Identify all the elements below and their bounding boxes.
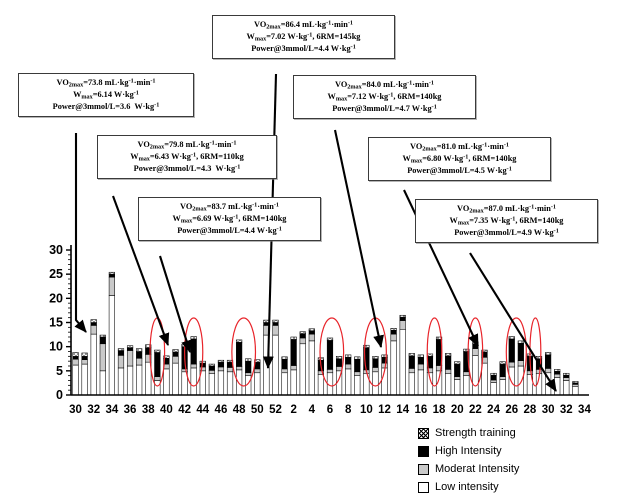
x-tick-label: 40 [160, 404, 173, 416]
bar-segment-high-intensity [173, 352, 179, 356]
bar-column [245, 359, 251, 395]
bar-segment-moderat-intensity [536, 369, 542, 373]
bar-segment-moderat-intensity [191, 364, 197, 368]
bar-segment-low-intensity [491, 382, 497, 395]
x-tick-label: 30 [542, 404, 555, 416]
bar-segment-low-intensity [209, 374, 215, 395]
bar-segment-high-intensity [291, 339, 297, 365]
x-tick-label: 42 [178, 404, 191, 416]
bar-column [454, 362, 460, 395]
y-tick-label: 15 [49, 316, 63, 330]
legend-item-moderat-intensity: Moderat Intensity [418, 460, 519, 478]
bar-column [400, 315, 406, 395]
bar-column [418, 355, 424, 395]
bar-segment-strength-training [554, 369, 560, 371]
bar-segment-low-intensity [454, 380, 460, 395]
bar-segment-strength-training [209, 364, 215, 366]
bar-segment-moderat-intensity [100, 344, 106, 371]
x-tick-label: 32 [560, 404, 573, 416]
bar-segment-low-intensity [554, 378, 560, 395]
bar-segment-high-intensity [282, 359, 288, 369]
bar-segment-low-intensity [136, 365, 142, 395]
annotation-power-line: Power@3mmol/L=4.4 W·kg-1 [144, 225, 315, 237]
bar-segment-strength-training [454, 362, 460, 364]
bar-segment-strength-training [136, 349, 142, 352]
bar-column [91, 320, 97, 395]
bar-segment-moderat-intensity [491, 380, 497, 382]
bar-segment-low-intensity [264, 335, 270, 395]
y-tick-label: 10 [49, 340, 63, 354]
bar-segment-moderat-intensity [136, 358, 142, 365]
bar-segment-high-intensity [100, 337, 106, 344]
legend-label: Moderat Intensity [435, 463, 519, 475]
bar-column [100, 335, 106, 395]
annotation-power-line: Power@3mmol/L=4.3 W·kg-1 [103, 163, 271, 175]
bar-segment-moderat-intensity [82, 360, 88, 364]
bar-segment-low-intensity [345, 369, 351, 395]
bar-segment-strength-training [82, 353, 88, 356]
bar-column [82, 353, 88, 395]
annotation-vo2-line: VO2max=86.4 mL·kg-1·min-1 [218, 19, 389, 31]
bar-segment-high-intensity [109, 274, 115, 277]
bar-segment-high-intensity [73, 356, 79, 359]
bar-column [209, 364, 215, 395]
annotation-power-line: Power@3mmol/L=3.6 W·kg-1 [24, 101, 188, 113]
bar-segment-high-intensity [563, 375, 569, 377]
bar-segment-strength-training [491, 373, 497, 375]
x-tick-label: 34 [105, 404, 118, 416]
annotation-vo2-line: VO2max=73.8 mL·kg-1·min-1 [24, 77, 188, 89]
x-tick-label: 36 [124, 404, 137, 416]
bar-segment-high-intensity [391, 330, 397, 334]
x-tick-label: 44 [196, 404, 209, 416]
bar-column [573, 381, 579, 395]
annotation-wmax-line: Wmax=6.14 W·kg-1 [24, 89, 188, 101]
bar-segment-high-intensity [136, 352, 142, 359]
bar-segment-moderat-intensity [155, 377, 161, 381]
bar-column [563, 373, 569, 395]
bar-segment-low-intensity [573, 386, 579, 395]
bar-segment-strength-training [155, 350, 161, 352]
bar-column [291, 337, 297, 395]
bar-segment-high-intensity [454, 364, 460, 377]
bar-segment-strength-training [309, 329, 315, 331]
bar-column [218, 360, 224, 395]
annotation-vo2-line: VO2max=79.8 mL·kg-1·min-1 [103, 139, 271, 151]
bar-column [200, 361, 206, 395]
bar-segment-low-intensity [100, 371, 106, 395]
bar-column [282, 357, 288, 395]
bar-segment-low-intensity [400, 329, 406, 395]
bar-segment-low-intensity [482, 363, 488, 395]
bar-segment-strength-training [109, 272, 115, 274]
bar-segment-strength-training [563, 373, 569, 375]
bar-segment-moderat-intensity [127, 351, 133, 366]
bar-segment-high-intensity [245, 361, 251, 373]
bar-segment-strength-training [418, 355, 424, 357]
bars-layer [73, 272, 578, 395]
chart-legend: Strength training High Intensity Moderat… [418, 424, 519, 496]
annotation-wmax-line: Wmax=7.12 W·kg-1, 6RM=140kg [299, 91, 470, 103]
bar-segment-low-intensity [418, 370, 424, 395]
bar-segment-strength-training [218, 360, 224, 362]
bar-column [300, 332, 306, 395]
bar-segment-moderat-intensity [109, 277, 115, 295]
bar-segment-strength-training [282, 357, 288, 359]
bar-segment-low-intensity [291, 370, 297, 395]
bar-segment-strength-training [336, 356, 342, 358]
bar-segment-high-intensity [209, 366, 215, 370]
bar-segment-strength-training [391, 328, 397, 330]
bar-segment-strength-training [173, 350, 179, 352]
bar-segment-strength-training [473, 342, 479, 344]
bar-segment-high-intensity [354, 359, 360, 372]
bar-segment-strength-training [545, 352, 551, 354]
bar-segment-moderat-intensity [91, 325, 97, 334]
highlight-ellipse [530, 318, 541, 386]
bar-segment-low-intensity [155, 381, 161, 396]
bar-segment-low-intensity [236, 370, 242, 395]
bar-segment-high-intensity [309, 331, 315, 334]
bar-segment-moderat-intensity [500, 377, 506, 380]
x-tick-label: 4 [309, 404, 316, 416]
bar-segment-low-intensity [509, 367, 515, 395]
annotation-box-4: VO2max=86.4 mL·kg-1·min-1 Wmax=7.02 W·kg… [212, 15, 395, 59]
bar-segment-high-intensity [264, 323, 270, 326]
bar-segment-low-intensity [191, 368, 197, 395]
bar-segment-moderat-intensity [236, 366, 242, 369]
annotation-wmax-line: Wmax=6.80 W·kg-1, 6RM=140kg [374, 153, 545, 165]
bar-segment-low-intensity [518, 366, 524, 395]
annotation-box-1: VO2max=73.8 mL·kg-1·min-1 Wmax=6.14 W·kg… [18, 73, 194, 117]
x-tick-label: 16 [414, 404, 427, 416]
bar-segment-moderat-intensity [300, 338, 306, 344]
bar-segment-strength-training [509, 337, 515, 339]
x-tick-label: 8 [345, 404, 352, 416]
legend-swatch-moderate-icon [418, 464, 429, 475]
x-tick-label: 30 [69, 404, 82, 416]
bar-segment-low-intensity [391, 341, 397, 395]
x-tick-label: 22 [469, 404, 482, 416]
legend-label: Low intensity [435, 481, 499, 493]
bar-column [491, 373, 497, 395]
bar-segment-strength-training [300, 332, 306, 334]
bar-segment-strength-training [518, 341, 524, 343]
annotation-vo2-line: VO2max=87.0 mL·kg-1·min-1 [421, 203, 592, 215]
bar-segment-high-intensity [345, 357, 351, 364]
bar-segment-moderat-intensity [273, 325, 279, 335]
bar-column [136, 349, 142, 395]
legend-item-low-intensity: Low intensity [418, 478, 519, 496]
bar-segment-moderat-intensity [454, 377, 460, 380]
y-tick-label: 5 [56, 364, 63, 378]
annotation-power-line: Power@3mmol/L=4.9 W·kg-1 [421, 227, 592, 239]
bar-segment-high-intensity [473, 344, 479, 349]
x-tick-label: 20 [451, 404, 464, 416]
bar-segment-low-intensity [409, 373, 415, 395]
bar-segment-high-intensity [509, 339, 515, 362]
bar-segment-moderat-intensity [418, 364, 424, 370]
annotation-power-line: Power@3mmol/L=4.7 W·kg-1 [299, 103, 470, 115]
bar-segment-low-intensity [500, 380, 506, 395]
bar-segment-high-intensity [409, 356, 415, 369]
bar-column [345, 355, 351, 395]
annotation-wmax-line: Wmax=7.35 W·kg-1, 6RM=140kg [421, 215, 592, 227]
annotation-box-6: VO2max=81.0 mL·kg-1·min-1 Wmax=6.80 W·kg… [368, 137, 551, 181]
bar-segment-moderat-intensity [254, 369, 260, 373]
bar-column [109, 272, 115, 395]
bar-segment-high-intensity [191, 339, 197, 364]
bar-segment-high-intensity [118, 351, 124, 356]
bar-segment-moderat-intensity [473, 349, 479, 356]
bar-column [354, 357, 360, 395]
bar-segment-moderat-intensity [227, 367, 233, 371]
y-tick-label: 20 [49, 291, 63, 305]
bar-segment-strength-training [318, 358, 324, 360]
legend-swatch-low-icon [418, 482, 429, 493]
bar-segment-moderat-intensity [73, 359, 79, 365]
bar-segment-high-intensity [327, 340, 333, 369]
legend-label: Strength training [435, 427, 516, 439]
bar-column [509, 337, 515, 395]
legend-swatch-strength-icon [418, 428, 429, 439]
bar-segment-moderat-intensity [400, 321, 406, 330]
bar-segment-strength-training [273, 320, 279, 322]
bar-column [227, 360, 233, 395]
bar-segment-high-intensity [500, 364, 506, 377]
annotation-vo2-line: VO2max=83.7 mL·kg-1·min-1 [144, 201, 315, 213]
bar-segment-moderat-intensity [264, 325, 270, 335]
bar-segment-high-intensity [82, 356, 88, 359]
bar-segment-moderat-intensity [382, 363, 388, 368]
bar-segment-high-intensity [518, 343, 524, 360]
bar-segment-low-intensity [82, 364, 88, 395]
bar-segment-moderat-intensity [563, 378, 569, 381]
highlight-ellipse [232, 318, 256, 386]
bar-column [173, 350, 179, 395]
bar-segment-strength-training [100, 335, 106, 337]
bar-segment-moderat-intensity [173, 356, 179, 363]
bar-segment-strength-training [354, 357, 360, 359]
bar-segment-strength-training [573, 381, 579, 382]
bar-segment-strength-training [327, 338, 333, 340]
bar-segment-strength-training [91, 320, 97, 323]
annotation-vo2-line: VO2max=84.0 mL·kg-1·min-1 [299, 79, 470, 91]
bar-column [336, 356, 342, 395]
bar-segment-strength-training [409, 353, 415, 355]
bar-segment-low-intensity [164, 369, 170, 395]
x-tick-label: 48 [233, 404, 246, 416]
legend-label: High Intensity [435, 445, 502, 457]
bar-segment-low-intensity [91, 334, 97, 395]
bar-segment-high-intensity [554, 371, 560, 374]
bar-segment-moderat-intensity [209, 370, 215, 373]
x-tick-label: 18 [433, 404, 446, 416]
bar-column [473, 342, 479, 395]
x-tick-label: 14 [396, 404, 409, 416]
x-tick-label: 12 [378, 404, 391, 416]
annotation-vo2-line: VO2max=81.0 mL·kg-1·min-1 [374, 141, 545, 153]
bar-segment-low-intensity [354, 376, 360, 395]
bar-segment-moderat-intensity [518, 361, 524, 366]
x-tick-label: 52 [269, 404, 282, 416]
bar-segment-moderat-intensity [509, 362, 515, 367]
bar-segment-strength-training [427, 354, 433, 356]
bar-segment-moderat-intensity [345, 364, 351, 369]
bar-segment-strength-training [236, 340, 242, 342]
bar-segment-strength-training [345, 355, 351, 357]
bar-segment-moderat-intensity [282, 369, 288, 373]
bar-segment-moderat-intensity [218, 367, 224, 371]
bar-segment-low-intensity [318, 375, 324, 395]
y-tick-label: 25 [49, 267, 63, 281]
bar-segment-strength-training [373, 356, 379, 358]
annotation-box-2: VO2max=79.8 mL·kg-1·min-1 Wmax=6.43 W·kg… [97, 135, 277, 179]
bar-column [445, 353, 451, 395]
bar-segment-low-intensity [173, 363, 179, 395]
bar-segment-low-intensity [445, 374, 451, 395]
bar-segment-low-intensity [300, 344, 306, 395]
bar-segment-high-intensity [236, 342, 242, 366]
bar-segment-low-intensity [545, 373, 551, 395]
bar-column [554, 369, 560, 395]
annotation-wmax-line: Wmax=6.69 W·kg-1, 6RM=140kg [144, 213, 315, 225]
annotation-wmax-line: Wmax=7.02 W·kg-1, 6RM=145kg [218, 31, 389, 43]
y-tick-label: 30 [49, 243, 63, 257]
bar-segment-low-intensity [309, 341, 315, 395]
bar-segment-strength-training [127, 346, 133, 348]
bar-segment-high-intensity [373, 359, 379, 368]
bar-segment-low-intensity [73, 365, 79, 395]
bar-column [236, 340, 242, 395]
bar-segment-moderat-intensity [118, 355, 124, 368]
annotation-box-7: VO2max=87.0 mL·kg-1·min-1 Wmax=7.35 W·kg… [415, 199, 598, 243]
bar-segment-moderat-intensity [573, 384, 579, 386]
bar-segment-strength-training [245, 359, 251, 361]
bar-segment-moderat-intensity [291, 366, 297, 370]
x-tick-label: 26 [505, 404, 518, 416]
bar-segment-strength-training [73, 352, 79, 356]
bar-segment-moderat-intensity [336, 366, 342, 370]
bar-column [391, 328, 397, 395]
bar-segment-high-intensity [491, 375, 497, 380]
bar-segment-strength-training [191, 337, 197, 339]
legend-item-strength-training: Strength training [418, 424, 519, 442]
bar-column [254, 360, 260, 395]
bar-column [127, 346, 133, 395]
x-tick-label: 28 [524, 404, 537, 416]
x-tick-label: 10 [360, 404, 373, 416]
bar-segment-low-intensity [563, 381, 569, 396]
bar-segment-moderat-intensity [245, 373, 251, 376]
bar-column [155, 350, 161, 395]
bar-segment-moderat-intensity [554, 374, 560, 377]
bar-segment-high-intensity [127, 348, 133, 351]
bar-segment-strength-training [500, 362, 506, 364]
bar-column [73, 352, 79, 395]
bar-segment-high-intensity [545, 355, 551, 369]
bar-segment-low-intensity [109, 295, 115, 395]
bar-column [264, 320, 270, 395]
bar-segment-high-intensity [91, 323, 97, 326]
bar-segment-low-intensity [227, 372, 233, 395]
bar-segment-moderat-intensity [409, 368, 415, 372]
bar-column [373, 356, 379, 395]
bar-segment-high-intensity [218, 362, 224, 367]
bar-column [273, 320, 279, 395]
bar-segment-low-intensity [127, 366, 133, 395]
x-tick-label: 46 [215, 404, 228, 416]
annotation-box-5: VO2max=84.0 mL·kg-1·min-1 Wmax=7.12 W·kg… [293, 75, 476, 119]
legend-item-high-intensity: High Intensity [418, 442, 519, 460]
bar-segment-strength-training [118, 349, 124, 351]
annotation-power-line: Power@3mmol/L=4.4 W·kg-1 [218, 43, 389, 55]
bar-segment-strength-training [264, 320, 270, 322]
bar-column [500, 362, 506, 395]
x-tick-label: 32 [87, 404, 100, 416]
bar-segment-low-intensity [473, 355, 479, 395]
bar-segment-strength-training [291, 337, 297, 339]
bar-segment-moderat-intensity [464, 372, 470, 376]
bar-segment-moderat-intensity [327, 369, 333, 372]
bar-segment-moderat-intensity [309, 334, 315, 341]
bar-segment-moderat-intensity [445, 369, 451, 373]
y-tick-label: 0 [56, 388, 63, 402]
bar-segment-high-intensity [273, 323, 279, 326]
bar-column [545, 352, 551, 395]
bar-column [309, 329, 315, 395]
bar-segment-high-intensity [418, 357, 424, 364]
bar-segment-high-intensity [300, 334, 306, 338]
bar-segment-low-intensity [373, 372, 379, 395]
annotation-power-line: Power@3mmol/L=4.5 W·kg-1 [374, 165, 545, 177]
bar-segment-moderat-intensity [527, 371, 533, 375]
x-tick-label: 38 [142, 404, 155, 416]
bar-segment-moderat-intensity [545, 368, 551, 372]
bar-segment-low-intensity [118, 368, 124, 395]
bar-column [118, 349, 124, 395]
x-tick-label: 24 [487, 404, 500, 416]
annotation-box-3: VO2max=83.7 mL·kg-1·min-1 Wmax=6.69 W·kg… [138, 197, 321, 241]
bar-segment-low-intensity [464, 376, 470, 395]
bar-segment-low-intensity [282, 373, 288, 395]
annotation-wmax-line: Wmax=6.43 W·kg-1, 6RM=110kg [103, 151, 271, 163]
x-tick-label: 2 [290, 404, 296, 416]
bar-segment-strength-training [400, 315, 406, 317]
x-tick-label: 50 [251, 404, 264, 416]
bar-segment-low-intensity [254, 373, 260, 395]
bar-segment-low-intensity [218, 371, 224, 395]
bar-segment-moderat-intensity [373, 367, 379, 371]
x-tick-label: 34 [578, 404, 591, 416]
bar-column [409, 353, 415, 395]
bar-segment-moderat-intensity [391, 334, 397, 341]
bar-segment-high-intensity [155, 352, 161, 376]
bar-column [518, 341, 524, 395]
legend-swatch-high-icon [418, 446, 429, 457]
bar-segment-moderat-intensity [354, 372, 360, 376]
bar-segment-high-intensity [336, 359, 342, 367]
bar-segment-high-intensity [445, 356, 451, 370]
bar-segment-strength-training [445, 353, 451, 355]
bar-segment-high-intensity [400, 317, 406, 320]
x-tick-label: 6 [327, 404, 333, 416]
bar-segment-low-intensity [273, 335, 279, 395]
